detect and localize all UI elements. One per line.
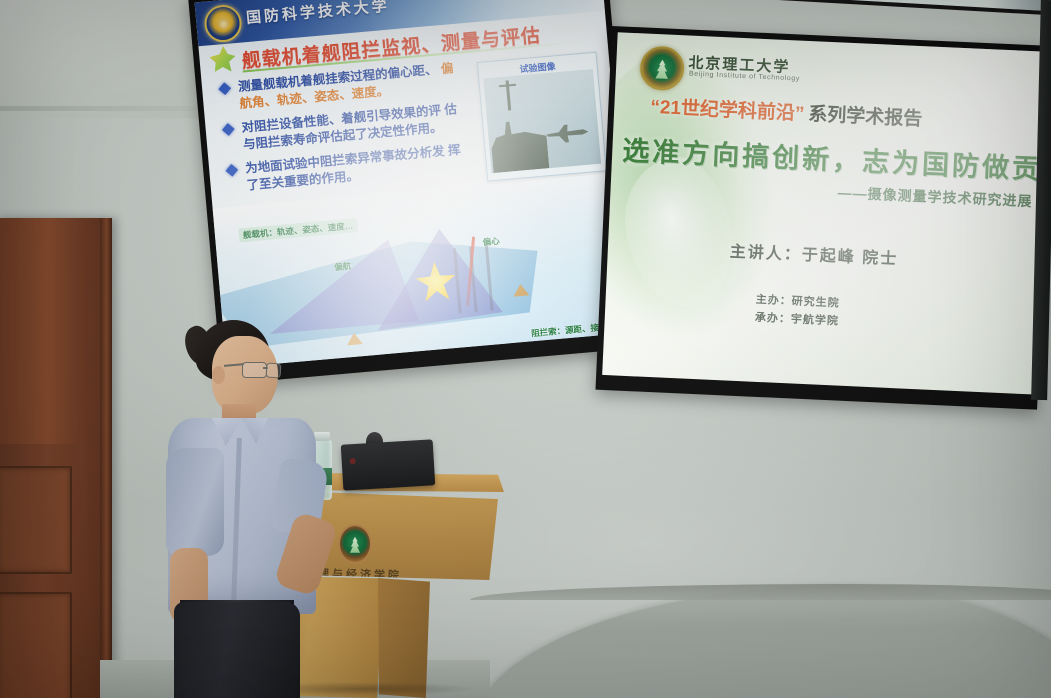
ear bbox=[212, 366, 225, 384]
door-panel bbox=[0, 592, 72, 698]
lecture-subtitle: ——摄像测量学技术研究进展 bbox=[837, 182, 1033, 211]
series-rest-text: 系列学术报告 bbox=[808, 104, 923, 130]
podium-column-side bbox=[378, 578, 430, 698]
diagram-label-nav: 偏航 bbox=[330, 258, 356, 274]
aircraft-carrier-shape bbox=[489, 110, 550, 173]
star-burst-icon bbox=[209, 45, 237, 73]
left-slide-canvas: 国防科学技术大学 舰载机着舰阻拦监视、测量与评估 测量舰载机着舰挂索过程的偏心距… bbox=[195, 0, 633, 368]
test-image-inset: 试验图像 bbox=[477, 52, 607, 182]
speaker-person bbox=[150, 320, 360, 698]
carrier-mast-shape bbox=[506, 80, 512, 110]
door-panel bbox=[0, 466, 72, 574]
diagram-label-eccentric: 偏心 bbox=[478, 233, 504, 249]
glasses-lens-left bbox=[242, 362, 267, 378]
glasses-lens-right bbox=[265, 362, 281, 378]
right-projection-screen: 北京理工大学 Beijing Institute of Technology “… bbox=[595, 26, 1051, 410]
diagram-label-aircraft: 舰载机：轨迹、姿态、速度… bbox=[238, 218, 357, 242]
shirt-sleeve-left bbox=[166, 448, 224, 556]
carrier-photo bbox=[483, 69, 601, 173]
lecture-hall-photo: 系列学术报告 国防科学技术大学 舰载机着舰阻拦监视、测量与评估 测量舰载机着舰挂… bbox=[0, 0, 1051, 698]
left-slide-bullet-list: 测量舰载机着舰挂索过程的偏心距、 偏航角、轨迹、姿态、速度。 对阻拦设备性能、着… bbox=[216, 59, 476, 203]
far-screen-canvas: 系列学术报告 bbox=[745, 0, 1051, 12]
far-projection-screen: 系列学术报告 bbox=[741, 0, 1051, 16]
trousers bbox=[174, 602, 300, 698]
right-slide-canvas: 北京理工大学 Beijing Institute of Technology “… bbox=[602, 32, 1047, 394]
fighter-jet-shape bbox=[546, 122, 590, 146]
